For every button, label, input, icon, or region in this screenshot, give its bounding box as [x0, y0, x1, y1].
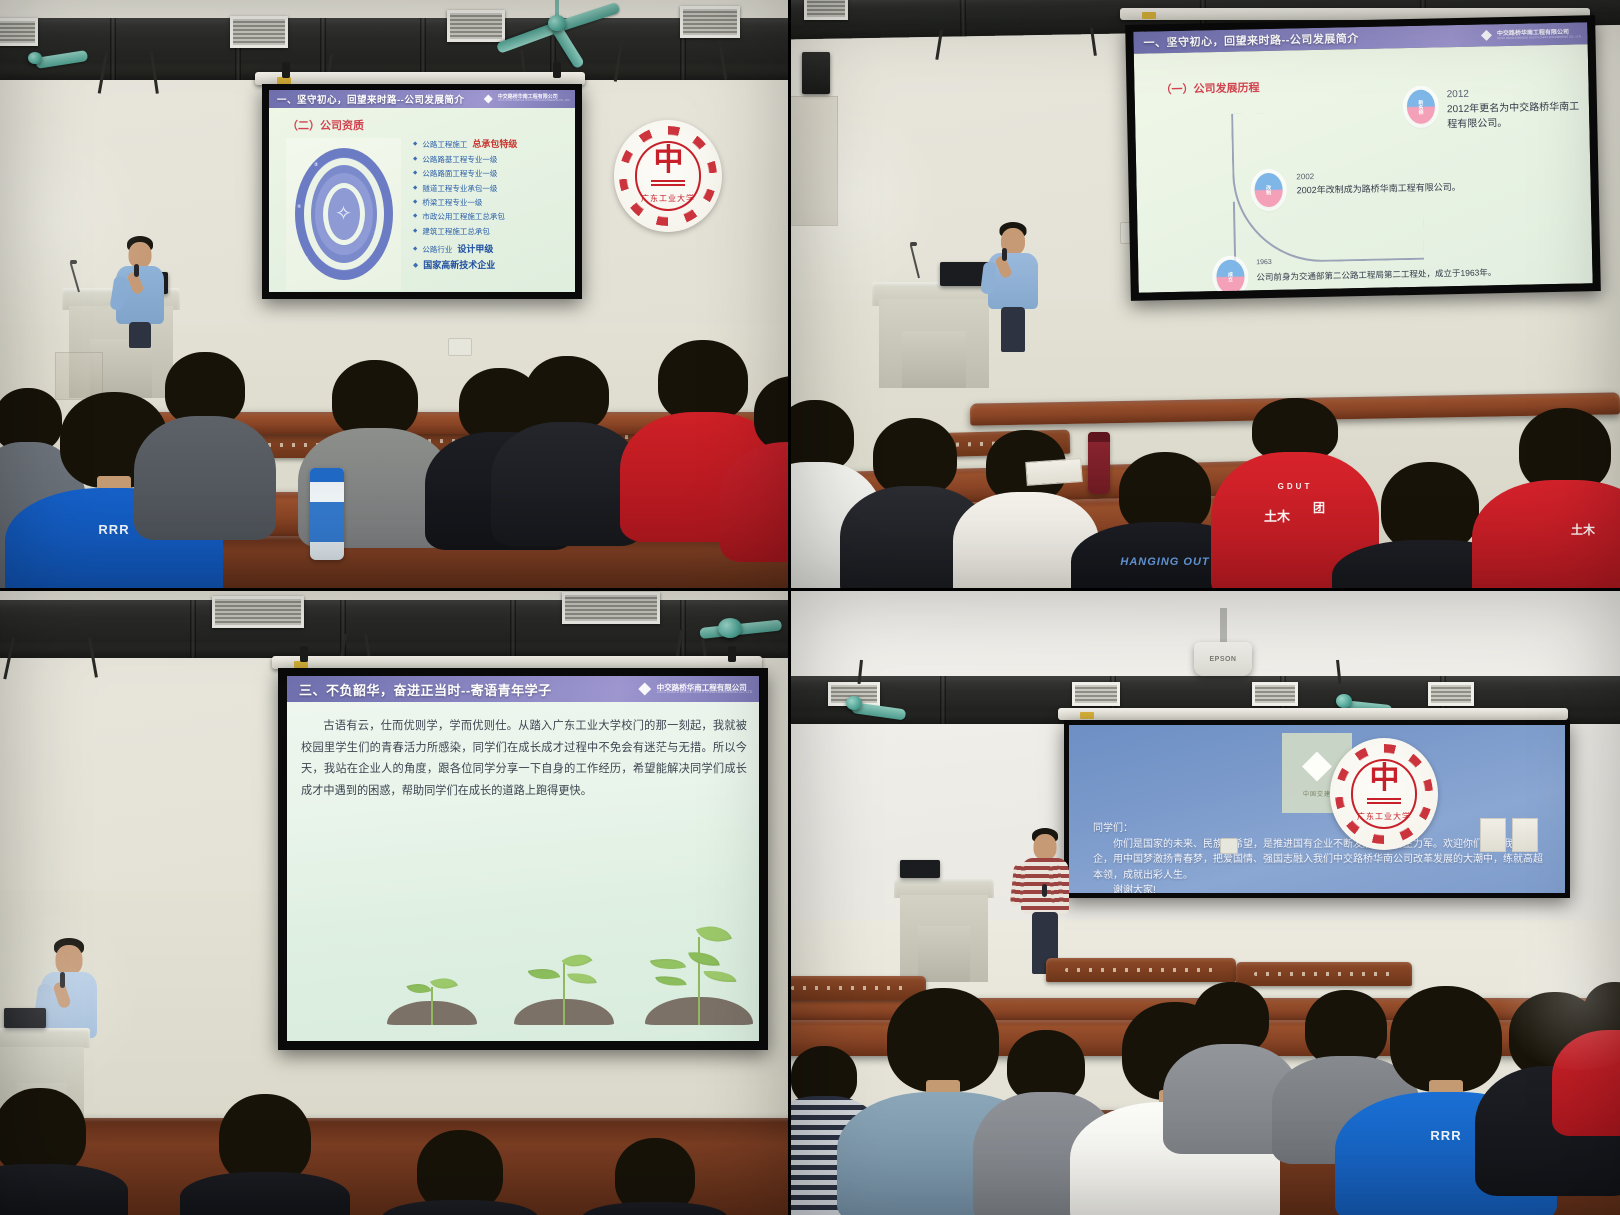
- attendee-red-shirt: [1560, 982, 1620, 1132]
- attendee: [400, 1130, 520, 1215]
- list-item: 桥梁工程专业一级: [413, 199, 517, 207]
- thermos: [1088, 432, 1110, 494]
- attendee-red-shirt: 土木: [1490, 408, 1620, 590]
- list-item: 建筑工程施工总承包: [413, 228, 517, 236]
- projector-brand: EPSON: [1209, 656, 1236, 663]
- timeline-year: 2002: [1296, 172, 1314, 181]
- wall-plate: [1220, 838, 1238, 854]
- company-brand-sub: CCCC ROAD & BRIDGE SOUTH CHINA ENGINEERI…: [1497, 35, 1582, 40]
- list-item: 市政公用工程施工总承包: [413, 213, 517, 221]
- shirt-cn-text2: 团: [1313, 502, 1325, 515]
- timeline-node: 新名称: [1407, 89, 1436, 124]
- projection-screen: 三、不负韶华，奋进正当时--寄语青年学子 中交路桥华南工程有限公司 CCCC R…: [278, 668, 768, 1050]
- attendee: [966, 430, 1086, 590]
- list-item: 公路行业设计甲级: [413, 245, 517, 254]
- list-item: 公路路面工程专业一级: [413, 170, 517, 178]
- screen-housing: [1058, 708, 1568, 720]
- slide-title-text: 三、不负韶华，奋进正当时--寄语青年学子: [299, 680, 552, 699]
- projection-screen: 中国交建 同学们： 你们是国家的未来、民族的希望，是推进国有企业不断发展壮大的生…: [1064, 720, 1570, 898]
- seedling-small: [383, 951, 481, 1025]
- photo-collage: 一、坚守初心，回望来时路--公司发展简介 中交路桥华南工程有限公司 CCCC R…: [0, 0, 1620, 1215]
- vent-grille: [447, 10, 505, 42]
- wall-speaker: [802, 52, 830, 94]
- timeline-text: 2002年改制成为路桥华南工程有限公司。: [1297, 181, 1477, 198]
- hvac-duct: [0, 18, 790, 80]
- seat-back: [1046, 958, 1236, 982]
- salutation: 同学们：: [1093, 823, 1133, 834]
- shirt-text-gdut: GDUT: [1278, 482, 1313, 491]
- compass-star-icon: [637, 681, 653, 697]
- laptop: [900, 860, 940, 878]
- company-logo: 中交路桥华南工程有限公司 CCCC ROAD & BRIDGE SOUTH CH…: [637, 681, 753, 697]
- vent-grille: [1072, 682, 1120, 706]
- lectern: [872, 282, 996, 388]
- slide-text: 同学们： 你们是国家的未来、民族的希望，是推进国有企业不断发展壮大的生力军。欢迎…: [1093, 821, 1547, 893]
- attendee: [200, 1094, 330, 1215]
- wall-notice: [1512, 818, 1538, 852]
- presenter: [980, 222, 1046, 352]
- projection-screen: 一、坚守初心，回望来时路--公司发展简介 中交路桥华南工程有限公司 CCCC R…: [1125, 15, 1601, 301]
- timeline-node: 成立: [1216, 260, 1245, 293]
- slide-company-history: 一、坚守初心，回望来时路--公司发展简介 中交路桥华南工程有限公司 CCCC R…: [1133, 22, 1592, 292]
- list-item: 公路工程施工总承包特级: [413, 140, 517, 149]
- vent-grille: [230, 16, 288, 48]
- door: [790, 96, 838, 226]
- seedling-large: [639, 897, 759, 1025]
- collage-seam-horizontal: [0, 588, 1620, 591]
- company-brand-sub: CCCC ROAD & BRIDGE SOUTH CHINA ENGINEERI…: [657, 691, 753, 694]
- attendee: [508, 356, 626, 534]
- projector: EPSON: [1194, 642, 1252, 676]
- list-item: 国家高新技术企业: [413, 261, 517, 270]
- slide-message-to-students: 三、不负韶华，奋进正当时--寄语青年学子 中交路桥华南工程有限公司 CCCC R…: [287, 676, 759, 1041]
- jacket-text: HANGING OUT: [1120, 556, 1209, 568]
- compass-star-icon: [483, 94, 494, 105]
- lectern: [894, 878, 994, 982]
- vent-grille: [1252, 682, 1298, 706]
- company-logo: 中交路桥华南工程有限公司 CCCC ROAD & BRIDGE SOUTH CH…: [1480, 27, 1582, 42]
- presenter-striped-shirt: [1012, 828, 1078, 976]
- water-bottle: [310, 468, 344, 560]
- collage-seam-vertical: [788, 0, 791, 1215]
- panel-top-left: 一、坚守初心，回望来时路--公司发展简介 中交路桥华南工程有限公司 CCCC R…: [0, 0, 790, 590]
- qualification-ring-diagram: ✧ ① ② ③ ④ ⑤ ⑥ ⑦: [286, 138, 401, 290]
- attendee: [600, 1138, 710, 1215]
- crest-glyph: 中: [1369, 766, 1398, 792]
- vent-grille: [562, 592, 660, 624]
- logo-label: 中国交建: [1303, 789, 1331, 798]
- wall-plate: [448, 338, 472, 356]
- slide-paragraph: 古语有云，仕而优则学，学而优则仕。从踏入广东工业大学校门的那一刻起，我就被校园里…: [301, 716, 747, 802]
- hvac-duct: [0, 600, 790, 658]
- crest-cn: 广东工业大学: [1357, 811, 1411, 822]
- vent-grille: [1428, 682, 1474, 706]
- crest-glyph: 中: [653, 148, 682, 174]
- shirt-logo: RRR: [1430, 1128, 1461, 1143]
- seedling-medium: [509, 925, 619, 1025]
- wall-notice: [1480, 818, 1506, 852]
- timeline-text: 公司前身为交通部第二公路工程局第二工程处，成立于1963年。: [1256, 265, 1536, 283]
- company-logo: 中交路桥华南工程有限公司 CCCC ROAD & BRIDGE SOUTH CH…: [483, 94, 570, 105]
- attendee: [0, 1088, 110, 1215]
- closing-paragraph: 你们是国家的未来、民族的希望，是推进国有企业不断发展壮大的生力军。欢迎你们走进我…: [1093, 837, 1547, 884]
- timeline-year: 2012: [1447, 89, 1469, 100]
- microphone: [910, 242, 917, 246]
- attendee: [1176, 982, 1286, 1162]
- list-item: 公路路基工程专业一级: [413, 156, 517, 164]
- university-crest: 中 广东工业大学: [1330, 738, 1438, 850]
- company-brand-sub: CCCC ROAD & BRIDGE SOUTH CHINA ENGINEERI…: [498, 100, 570, 102]
- laptop: [4, 1008, 46, 1028]
- compass-star-icon: [1299, 749, 1335, 785]
- microphone: [70, 260, 77, 264]
- slide-subtitle: （二）公司资质: [287, 117, 364, 133]
- vent-grille: [680, 6, 740, 38]
- qualification-list: 公路工程施工总承包特级 公路路基工程专业一级 公路路面工程专业一级 隧道工程专业…: [413, 140, 517, 271]
- paper-handout: [1025, 458, 1083, 486]
- vent-grille: [212, 596, 304, 628]
- slide-subtitle: （一）公司发展历程: [1160, 79, 1259, 97]
- slide-qualifications: 一、坚守初心，回望来时路--公司发展简介 中交路桥华南工程有限公司 CCCC R…: [269, 90, 575, 292]
- shirt-cn-text: 土木: [1264, 510, 1290, 524]
- projector-mount: [1220, 608, 1227, 644]
- list-item: 隧道工程专业承包一级: [413, 185, 517, 193]
- slide-title-text: 一、坚守初心，回望来时路--公司发展简介: [277, 92, 464, 106]
- compass-star-icon: [1480, 29, 1493, 42]
- presenter: [110, 236, 170, 346]
- university-crest: 中 广东工业大学: [614, 120, 722, 232]
- panel-top-right: 一、坚守初心，回望来时路--公司发展简介 中交路桥华南工程有限公司 CCCC R…: [790, 0, 1620, 590]
- crest-cn: 广东工业大学: [641, 193, 695, 204]
- projection-screen: 一、坚守初心，回望来时路--公司发展简介 中交路桥华南工程有限公司 CCCC R…: [262, 84, 582, 299]
- timeline-text: 2012年更名为中交路桥华南工程有限公司。: [1447, 100, 1588, 132]
- attendee-red-shirt: [740, 376, 790, 556]
- closing-thanks: 谢谢大家!: [1093, 883, 1547, 893]
- vent-grille: [804, 0, 848, 20]
- slide-title-text: 一、坚守初心，回望来时路--公司发展简介: [1143, 30, 1359, 51]
- attendee: [150, 352, 260, 532]
- panel-bottom-right: EPSON 中国交建 同学们： 你们是国家的未来、民族的希望，是推进国有企业不断…: [790, 590, 1620, 1215]
- slide-closing: 中国交建 同学们： 你们是国家的未来、民族的希望，是推进国有企业不断发展壮大的生…: [1069, 725, 1565, 893]
- timeline-year: 1963: [1256, 259, 1272, 266]
- panel-bottom-left: 三、不负韶华，奋进正当时--寄语青年学子 中交路桥华南工程有限公司 CCCC R…: [0, 590, 790, 1215]
- shirt-logo: RRR: [98, 522, 129, 537]
- vent-grille: [0, 18, 38, 46]
- shirt-cn-text: 土木: [1571, 524, 1595, 537]
